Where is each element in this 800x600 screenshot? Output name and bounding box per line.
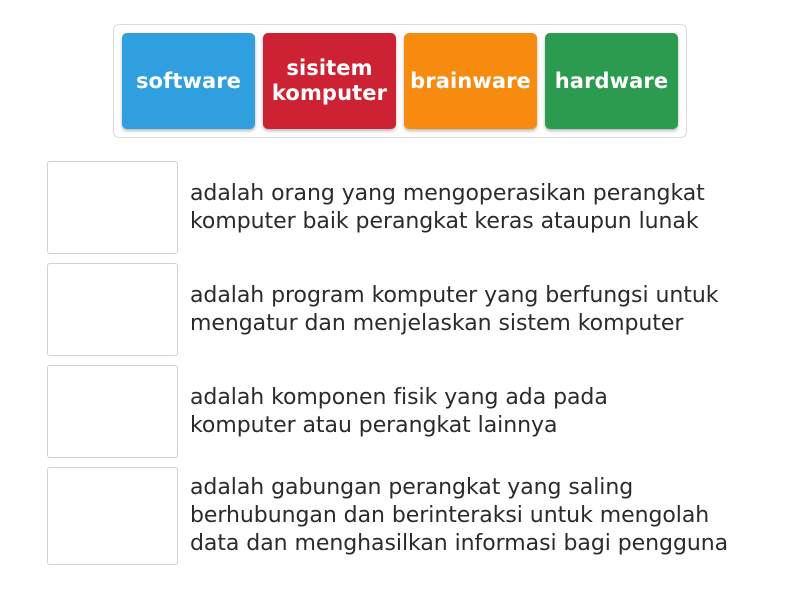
drop-target-slot[interactable] [47, 365, 178, 458]
draggable-tile-sisitem-komputer[interactable]: sisitem komputer [263, 33, 396, 129]
answer-row: adalah gabungan perangkat yang saling be… [47, 467, 787, 565]
definition-text: adalah gabungan perangkat yang saling be… [190, 474, 728, 558]
definition-text: adalah program komputer yang berfungsi u… [190, 282, 718, 338]
draggable-tile-software[interactable]: software [122, 33, 255, 129]
answer-row: adalah komponen fisik yang ada pada komp… [47, 365, 787, 458]
draggable-tile-hardware[interactable]: hardware [545, 33, 678, 129]
drop-target-slot[interactable] [47, 263, 178, 356]
drop-target-slot[interactable] [47, 161, 178, 254]
definition-text: adalah orang yang mengoperasikan perangk… [190, 180, 705, 236]
answer-row: adalah program komputer yang berfungsi u… [47, 263, 787, 356]
draggable-tile-brainware[interactable]: brainware [404, 33, 537, 129]
drop-target-slot[interactable] [47, 467, 178, 565]
answer-row: adalah orang yang mengoperasikan perangk… [47, 161, 787, 254]
definition-text: adalah komponen fisik yang ada pada komp… [190, 384, 608, 440]
word-tile-tray: software sisitem komputer brainware hard… [113, 24, 687, 138]
